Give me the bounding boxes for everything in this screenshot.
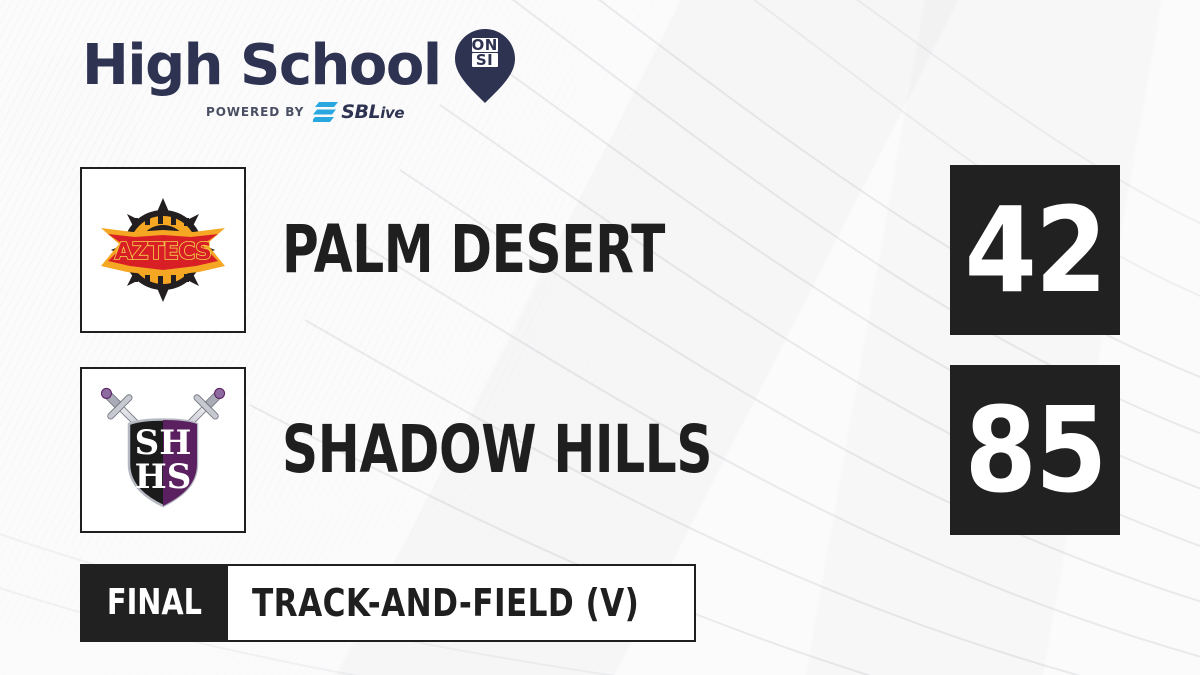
powered-by-row: POWERED BY SBLive [206,102,512,122]
score-box: 85 [950,365,1120,535]
sblive-wordmark: SBLive [341,103,404,122]
palm-desert-aztecs-logo: AZTECS [80,167,246,333]
score-value: 85 [965,391,1106,509]
event-panel: TRACK-AND-FIELD (V) [228,564,696,642]
event-label: TRACK-AND-FIELD (V) [252,584,639,622]
pin-label-line-2: SI [472,53,498,67]
brand-wordmark: High School [82,38,441,94]
pin-label-line-1: ON [472,38,498,52]
status-badge: FINAL [80,564,228,642]
powered-by-label: POWERED BY [206,105,304,119]
shadow-hills-logo: SH HS [80,367,246,533]
map-pin-icon-label: ON SI [453,37,517,68]
team-name: SHADOW HILLS [282,417,919,483]
sblive-word-lower: ive [380,104,404,122]
status-bar: FINAL TRACK-AND-FIELD (V) [80,564,696,642]
svg-text:AZTECS: AZTECS [115,239,212,265]
score-value: 42 [965,191,1106,309]
sblive-s-icon [313,102,339,122]
team-row: AZTECS PALM DESERT 42 [80,165,1120,335]
svg-text:HS: HS [135,457,192,497]
map-pin-icon: ON SI [453,27,517,105]
brand-logo-block: High School ON SI POWERED BY SBL [82,34,512,122]
brand-logo-row: High School ON SI [82,34,512,98]
scoreboard-graphic: High School ON SI POWERED BY SBL [0,0,1200,675]
status-badge-label: FINAL [106,585,201,621]
score-box: 42 [950,165,1120,335]
team-name: PALM DESERT [282,217,919,283]
sblive-word-upper: SBL [341,101,380,123]
team-row: SH HS SHADOW HILLS 85 [80,365,1120,535]
